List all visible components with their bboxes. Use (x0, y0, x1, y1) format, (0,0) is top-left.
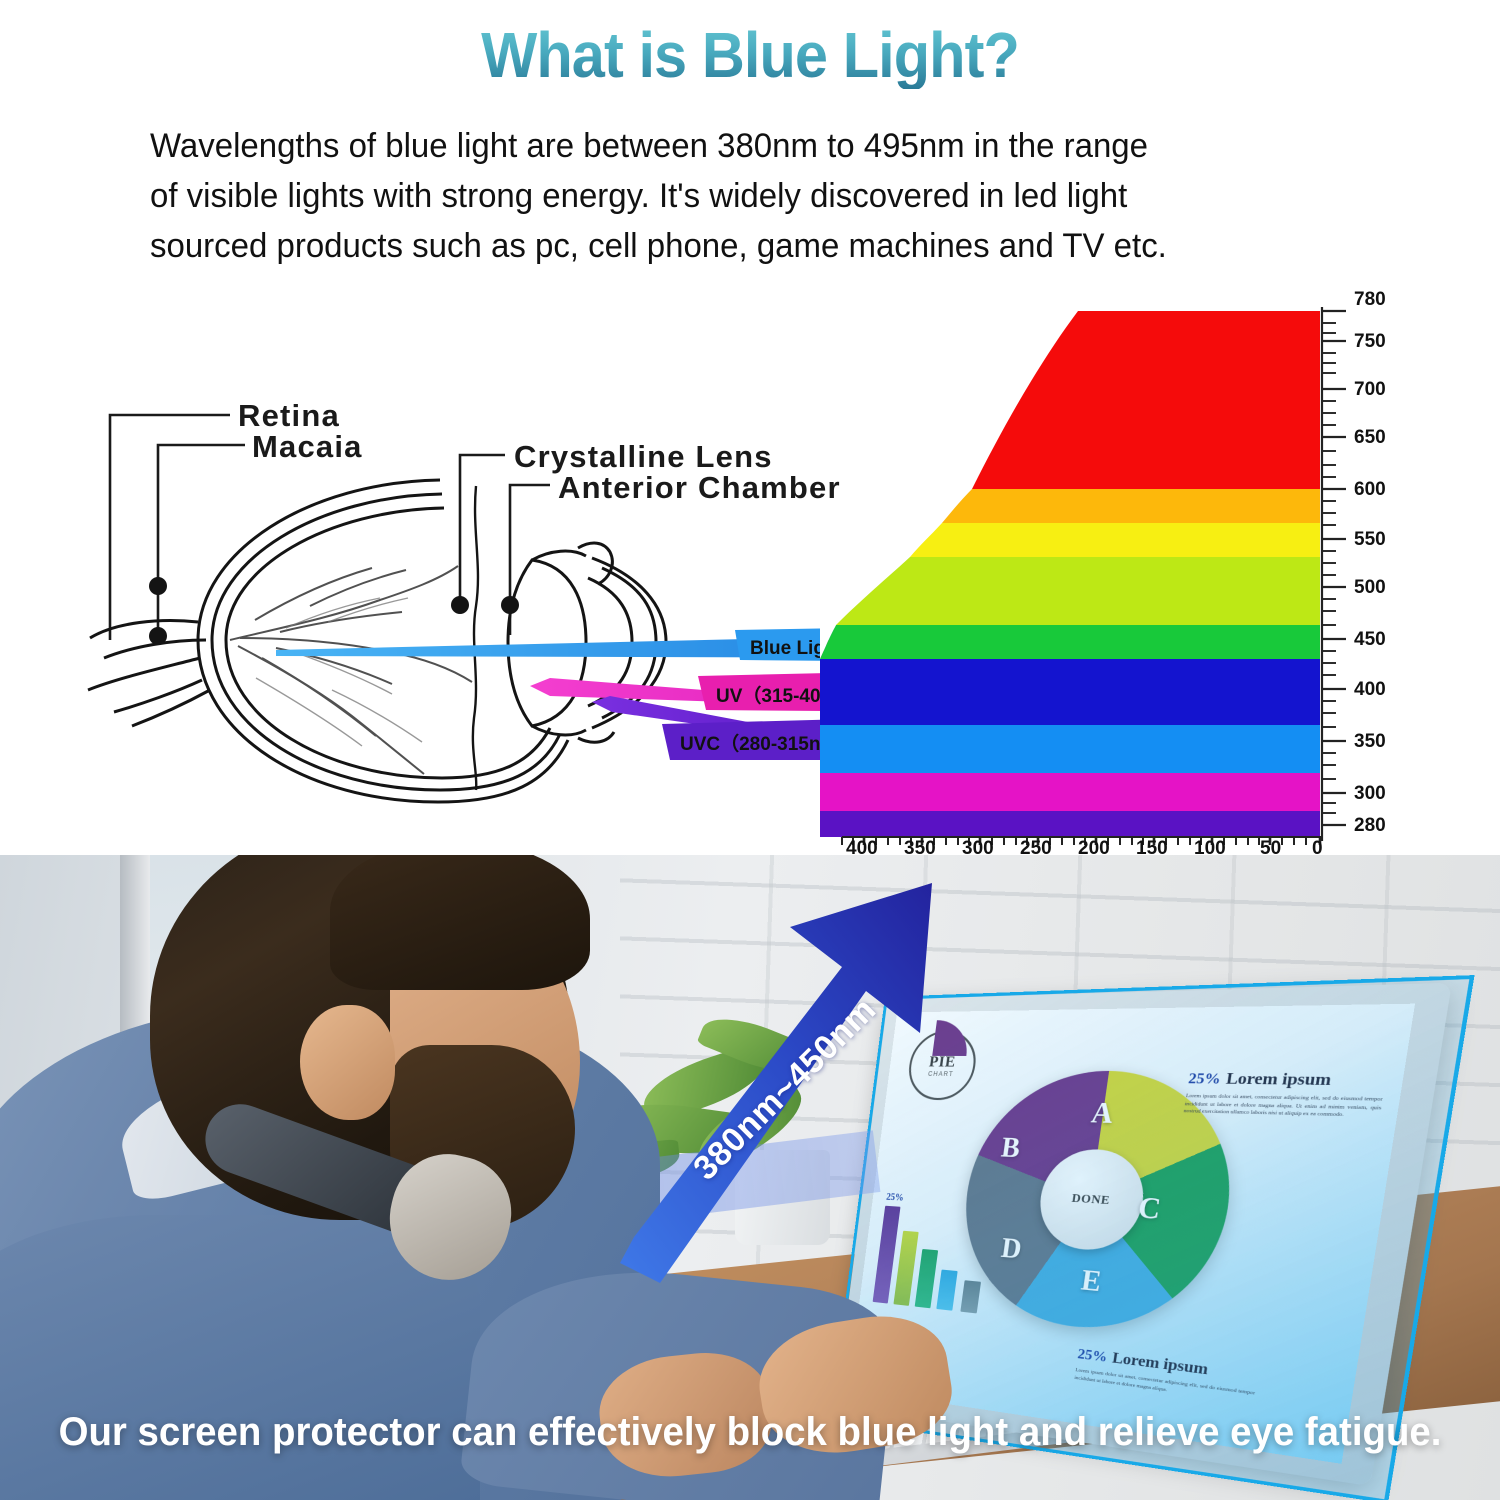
label-retina: Retina (238, 398, 340, 433)
callout-percent: 25% (1187, 1069, 1222, 1087)
callout-title: Lorem ipsum (1225, 1071, 1333, 1090)
y-axis (1322, 307, 1346, 841)
y-tick: 750 (1354, 331, 1386, 352)
marker-chamber-dot (451, 596, 469, 614)
label-macaia: Macaia (252, 429, 363, 464)
band-violet (820, 811, 1320, 837)
lifestyle-photo: PIE CHART DONE A B C D E 25% (0, 855, 1500, 1500)
label-crystalline-lens: Crystalline Lens (514, 439, 773, 474)
band-yellow-green (836, 557, 1320, 625)
mini-bar (960, 1280, 981, 1313)
label-anterior-chamber: Anterior Chamber (558, 470, 841, 505)
marker-macaia-dot (149, 627, 167, 645)
person-hair (330, 855, 590, 990)
y-tick: 500 (1354, 577, 1386, 598)
screen-callout-top: 25% Lorem ipsum Lorem ipsum dolor sit am… (1183, 1068, 1387, 1120)
y-tick: 450 (1354, 629, 1386, 650)
y-tick: 650 (1354, 427, 1386, 448)
intro-line-1: Wavelengths of blue light are between 38… (150, 122, 1314, 172)
pie-label-a: A (1089, 1097, 1115, 1131)
y-tick: 400 (1354, 679, 1386, 700)
callout-percent: 25% (1077, 1345, 1109, 1365)
band-light-blue (820, 725, 1320, 773)
wavelength-arrow (620, 865, 1040, 1285)
screen-callout-bottom: 25% Lorem ipsum Lorem ipsum dolor sit am… (1074, 1344, 1259, 1406)
y-tick: 780 (1354, 289, 1386, 310)
band-orange (942, 489, 1320, 523)
callout-body: Lorem ipsum dolor sit amet, consectetur … (1183, 1092, 1383, 1120)
photo-caption: Our screen protector can effectively blo… (30, 1410, 1470, 1455)
band-green (820, 625, 1320, 659)
y-tick: 550 (1354, 529, 1386, 550)
intro-line-3: sourced products such as pc, cell phone,… (150, 222, 1314, 272)
anterior-segment (473, 486, 666, 790)
pie-label-c: C (1136, 1191, 1163, 1226)
band-yellow (910, 523, 1320, 557)
person-ear (300, 1005, 395, 1120)
y-tick: 280 (1354, 815, 1386, 836)
marker-retina-dot (149, 577, 167, 595)
pie-hub-label: DONE (1071, 1192, 1111, 1208)
spectrum-chart: 780 750 700 650 600 550 500 450 400 350 … (820, 285, 1440, 845)
band-red (972, 311, 1320, 489)
spectrum-bands (820, 311, 1320, 827)
intro-line-2: of visible lights with strong energy. It… (150, 172, 1314, 222)
y-tick: 700 (1354, 379, 1386, 400)
y-tick: 350 (1354, 731, 1386, 752)
y-tick: 300 (1354, 783, 1386, 804)
y-tick-labels: 780 750 700 650 600 550 500 450 400 350 … (1354, 289, 1386, 836)
retinal-vessels (230, 566, 472, 774)
intro-paragraph: Wavelengths of blue light are between 38… (150, 122, 1314, 272)
infographic-page: What is Blue Light? Wavelengths of blue … (0, 0, 1500, 1500)
y-tick: 600 (1354, 479, 1386, 500)
marker-lens-dot (501, 596, 519, 614)
band-blue (820, 659, 1320, 725)
page-title: What is Blue Light? (53, 22, 1448, 89)
optic-nerve (88, 621, 210, 726)
top-info-panel: What is Blue Light? Wavelengths of blue … (0, 0, 1500, 855)
